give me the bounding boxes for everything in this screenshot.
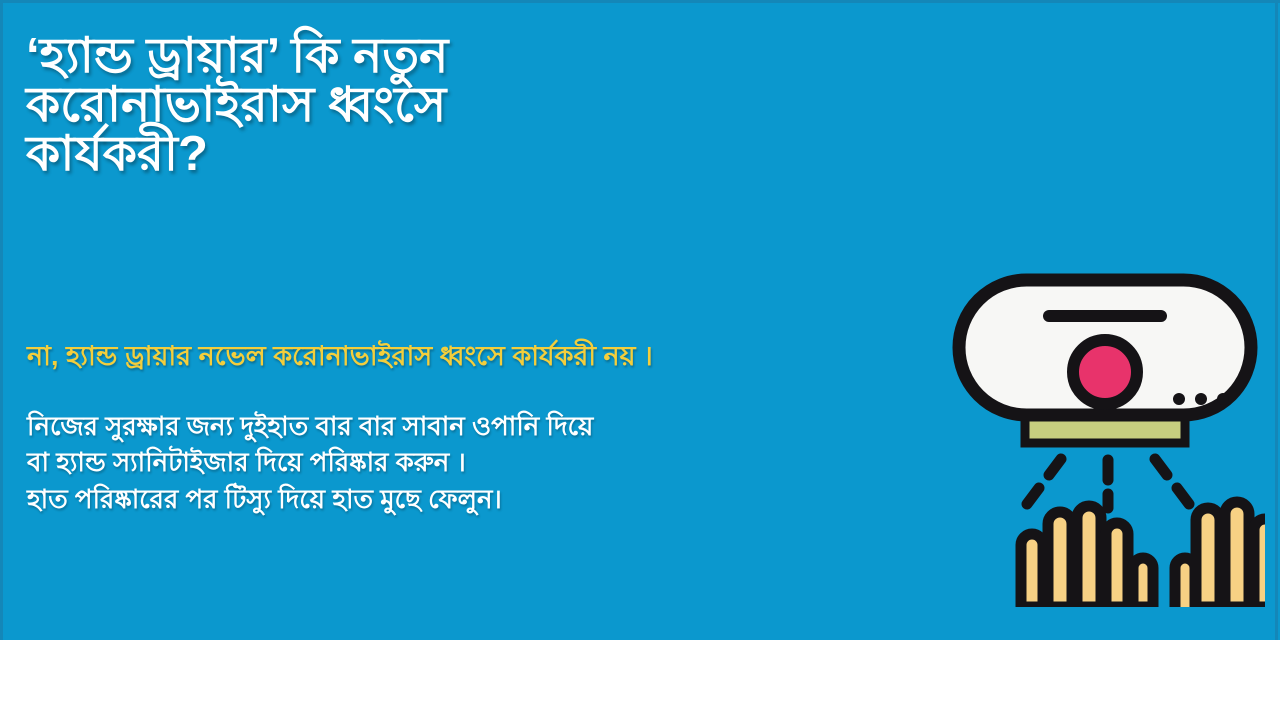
hands-pair <box>1021 502 1265 607</box>
answer-statement: না, হ্যান্ড ড্রায়ার নভেল করোনাভাইরাস ধ্… <box>27 340 947 372</box>
dryer-slot <box>1043 310 1167 322</box>
hand-dryer-illustration <box>945 262 1265 607</box>
footer-bar: World Health Organization Bangladesh Pro… <box>0 640 1280 720</box>
content-stage: ‘হ্যান্ড ড্রায়ার’ কি নতুন করোনাভাইরাস ধ… <box>0 0 1280 640</box>
dryer-power-button <box>1073 340 1137 404</box>
advice-paragraph: নিজের সুরক্ষার জন্য দুইহাত বার বার সাবান… <box>27 408 927 517</box>
dryer-indicator-dots <box>1173 393 1229 405</box>
air-flow-dashes <box>1027 459 1189 508</box>
poster-canvas: ‘হ্যান্ড ড্রায়ার’ কি নতুন করোনাভাইরাস ধ… <box>0 0 1280 720</box>
dryer-air-vent <box>1025 417 1185 443</box>
headline-question: ‘হ্যান্ড ড্রায়ার’ কি নতুন করোনাভাইরাস ধ… <box>26 32 726 179</box>
